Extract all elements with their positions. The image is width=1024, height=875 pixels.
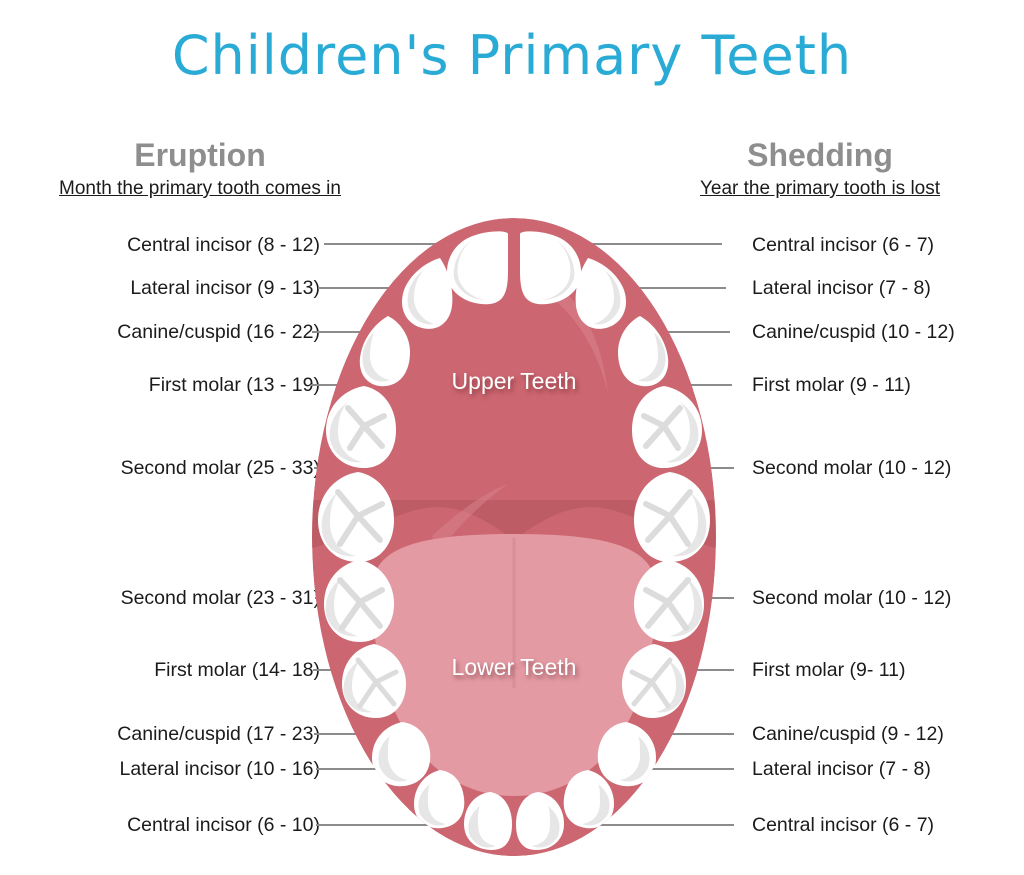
label-shedding-lower-second-molar: Second molar (10 - 12)	[752, 587, 951, 609]
page-title: Children's Primary Teeth	[0, 24, 1024, 87]
label-eruption-lower-central-incisor: Central incisor (6 - 10)	[127, 814, 320, 836]
label-eruption-lower-second-molar: Second molar (23 - 31)	[121, 587, 320, 609]
label-eruption-upper-central-incisor: Central incisor (8 - 12)	[127, 234, 320, 256]
label-eruption-lower-lateral-incisor: Lateral incisor (10 - 16)	[119, 758, 320, 780]
label-eruption-lower-canine: Canine/cuspid (17 - 23)	[117, 723, 320, 745]
label-shedding-upper-canine: Canine/cuspid (10 - 12)	[752, 321, 955, 343]
label-eruption-upper-lateral-incisor: Lateral incisor (9 - 13)	[130, 277, 320, 299]
label-shedding-upper-central-incisor: Central incisor (6 - 7)	[752, 234, 934, 256]
eruption-subheading: Month the primary tooth comes in	[59, 176, 341, 202]
label-shedding-lower-first-molar: First molar (9- 11)	[752, 659, 906, 681]
label-shedding-lower-central-incisor: Central incisor (6 - 7)	[752, 814, 934, 836]
shedding-heading: Shedding	[640, 136, 1000, 174]
label-eruption-upper-canine: Canine/cuspid (16 - 22)	[117, 321, 320, 343]
label-eruption-upper-second-molar: Second molar (25 - 33)	[121, 457, 320, 479]
label-eruption-lower-first-molar: First molar (14- 18)	[154, 659, 320, 681]
mouth-diagram: Upper Teeth Lower Teeth	[312, 218, 716, 856]
eruption-heading: Eruption	[20, 136, 380, 174]
label-shedding-lower-canine: Canine/cuspid (9 - 12)	[752, 723, 944, 745]
label-shedding-upper-first-molar: First molar (9 - 11)	[752, 374, 911, 396]
shedding-subheading: Year the primary tooth is lost	[700, 176, 940, 202]
label-shedding-lower-lateral-incisor: Lateral incisor (7 - 8)	[752, 758, 931, 780]
label-shedding-upper-lateral-incisor: Lateral incisor (7 - 8)	[752, 277, 931, 299]
label-shedding-upper-second-molar: Second molar (10 - 12)	[752, 457, 951, 479]
shedding-column-header: Shedding Year the primary tooth is lost	[640, 136, 1000, 202]
label-eruption-upper-first-molar: First molar (13 - 19)	[149, 374, 320, 396]
eruption-column-header: Eruption Month the primary tooth comes i…	[20, 136, 380, 202]
